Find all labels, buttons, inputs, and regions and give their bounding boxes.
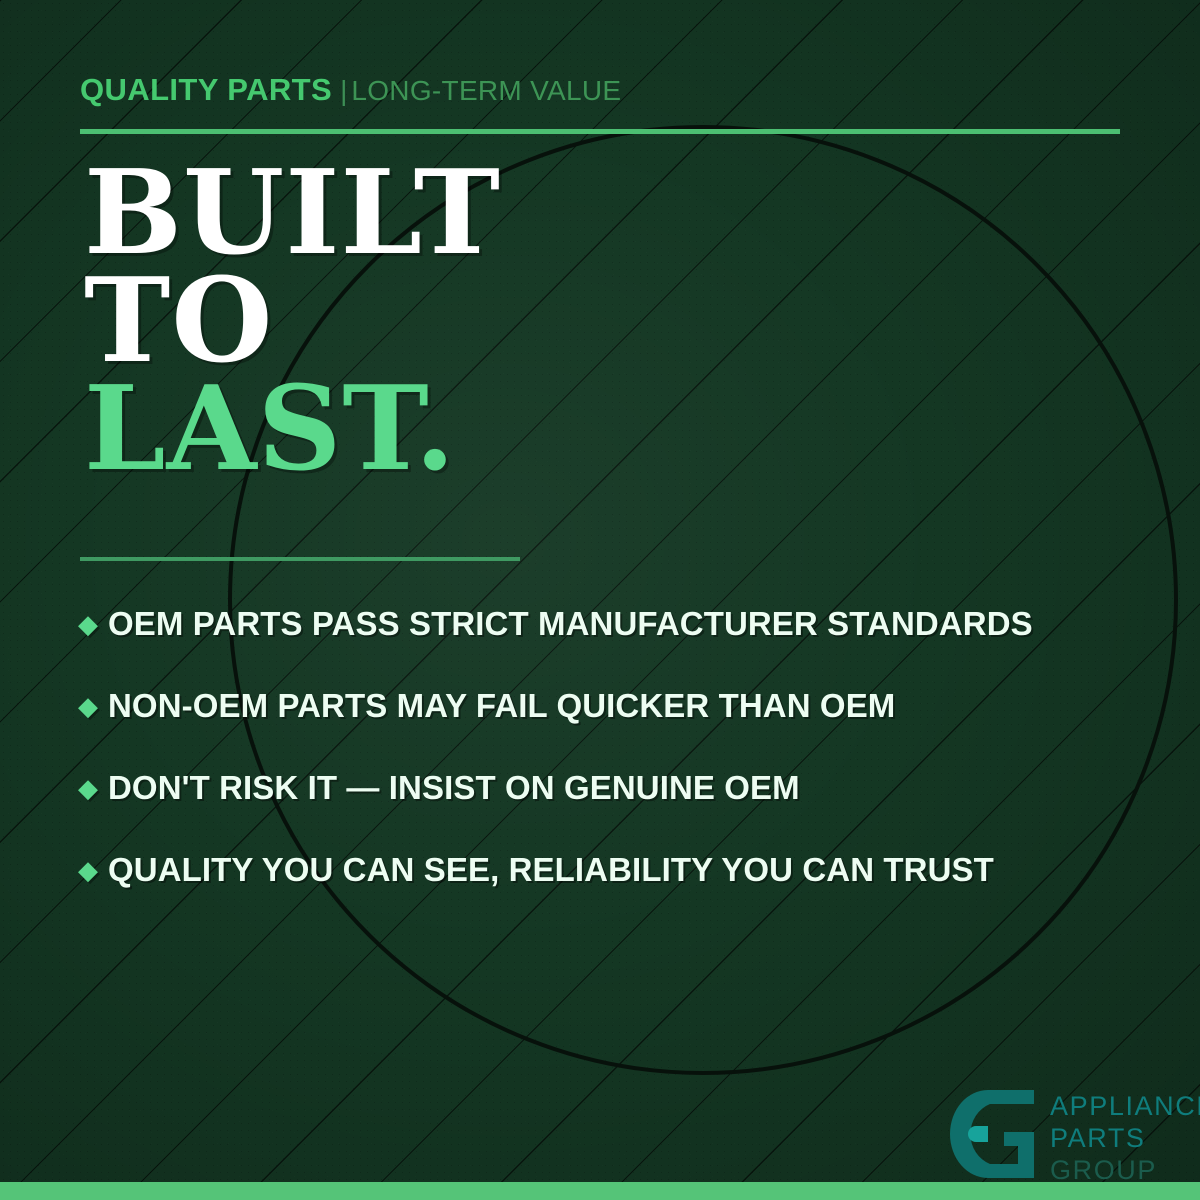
list-item: ◆ QUALITY YOU CAN SEE, RELIABILITY YOU C… [78,829,1168,911]
headline-divider-rule [80,557,520,561]
logo-word-appliance: APPLIANCE [1050,1093,1200,1120]
logo-wordmark: APPLIANCE PARTS GROUP [1050,1088,1200,1189]
logo-word-parts: PARTS [1050,1125,1200,1152]
headline-line-1: BUILT [84,160,501,268]
logo-word-group: GROUP [1050,1157,1200,1184]
headline-line-2: TO [84,268,501,376]
eyebrow: QUALITY PARTS|LONG-TERM VALUE [80,74,621,105]
diamond-bullet-icon: ◆ [78,775,108,801]
diamond-bullet-icon: ◆ [78,857,108,883]
list-item: ◆ OEM PARTS PASS STRICT MANUFACTURER STA… [78,583,1168,665]
list-item-label: QUALITY YOU CAN SEE, RELIABILITY YOU CAN… [108,851,994,889]
poster-content: QUALITY PARTS|LONG-TERM VALUE BUILT TO L… [0,0,1200,1200]
eyebrow-sub-label: LONG-TERM VALUE [351,75,621,106]
header-divider-rule [80,129,1120,134]
diamond-bullet-icon: ◆ [78,611,108,637]
list-item: ◆ NON-OEM PARTS MAY FAIL QUICKER THAN OE… [78,665,1168,747]
eyebrow-separator: | [340,75,347,106]
list-item-label: DON'T RISK IT — INSIST ON GENUINE OEM [108,769,800,807]
headline-line-3: LAST. [84,376,501,484]
logo-g-mark-icon [948,1088,1036,1180]
list-item: ◆ DON'T RISK IT — INSIST ON GENUINE OEM [78,747,1168,829]
poster-canvas: QUALITY PARTS|LONG-TERM VALUE BUILT TO L… [0,0,1200,1200]
list-item-label: OEM PARTS PASS STRICT MANUFACTURER STAND… [108,605,1033,643]
list-item-label: NON-OEM PARTS MAY FAIL QUICKER THAN OEM [108,687,895,725]
eyebrow-main-label: QUALITY PARTS [80,72,332,107]
footer-accent-bar [0,1182,1200,1200]
bullet-list: ◆ OEM PARTS PASS STRICT MANUFACTURER STA… [78,583,1168,911]
brand-logo: APPLIANCE PARTS GROUP [948,1088,1200,1189]
diamond-bullet-icon: ◆ [78,693,108,719]
headline: BUILT TO LAST. [84,160,501,484]
